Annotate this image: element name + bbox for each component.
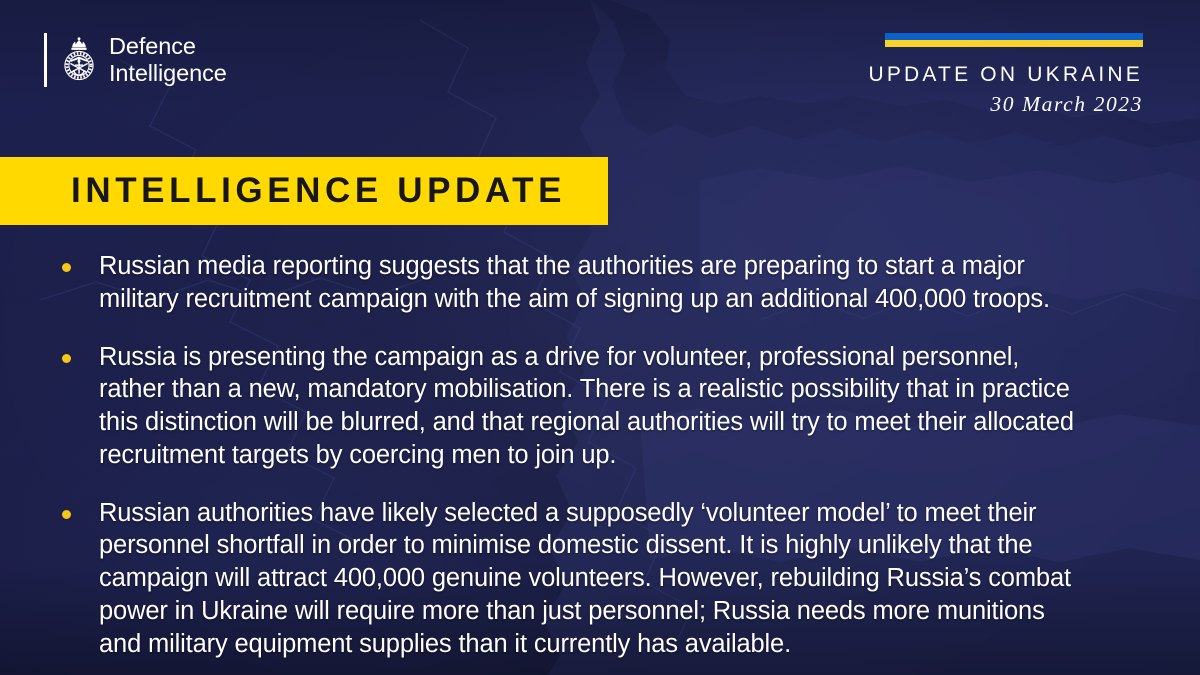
bullet-dot-icon bbox=[62, 263, 71, 272]
update-title: UPDATE ON UKRAINE bbox=[868, 62, 1143, 88]
bullet-text: Russian authorities have likely selected… bbox=[99, 497, 1079, 661]
logo-divider-rule bbox=[44, 33, 47, 87]
logo-line-intelligence: Intelligence bbox=[109, 60, 227, 87]
flag-blue-stripe bbox=[885, 33, 1143, 40]
mod-tri-service-crest-icon bbox=[60, 35, 98, 85]
intelligence-update-banner: INTELLIGENCE UPDATE bbox=[0, 157, 608, 225]
logo-line-defence: Defence bbox=[109, 33, 227, 60]
update-date: 30 March 2023 bbox=[868, 90, 1143, 119]
list-item: Russian authorities have likely selected… bbox=[62, 497, 1092, 661]
bullet-text: Russian media reporting suggests that th… bbox=[99, 250, 1079, 316]
defence-intelligence-logo: Defence Intelligence bbox=[44, 33, 227, 87]
list-item: Russian media reporting suggests that th… bbox=[62, 250, 1092, 316]
list-item: Russia is presenting the campaign as a d… bbox=[62, 341, 1092, 472]
flag-yellow-stripe bbox=[885, 40, 1143, 47]
bullet-list: Russian media reporting suggests that th… bbox=[62, 250, 1092, 660]
logo-wordmark: Defence Intelligence bbox=[109, 33, 227, 86]
bullet-dot-icon bbox=[62, 354, 71, 363]
header-right-block: UPDATE ON UKRAINE 30 March 2023 bbox=[868, 33, 1143, 119]
intelligence-update-poster: Defence Intelligence UPDATE ON UKRAINE 3… bbox=[0, 0, 1200, 675]
bullet-dot-icon bbox=[62, 510, 71, 519]
ukraine-flag-bar-icon bbox=[885, 33, 1143, 47]
banner-title: INTELLIGENCE UPDATE bbox=[0, 171, 566, 211]
bullet-text: Russia is presenting the campaign as a d… bbox=[99, 341, 1079, 472]
